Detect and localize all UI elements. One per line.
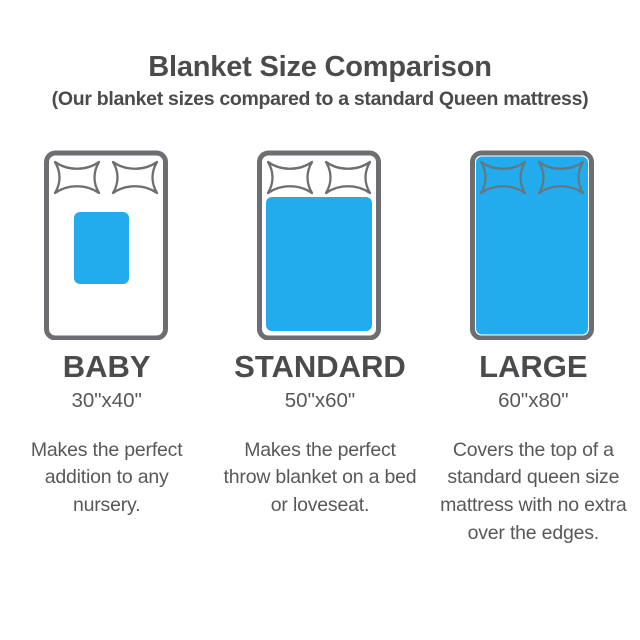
size-description-large: Covers the top of a standard queen size …	[435, 437, 631, 548]
size-description-baby: Makes the perfect addition to any nurser…	[9, 437, 205, 520]
size-name-large: LARGE	[479, 351, 588, 382]
page-subtitle: (Our blanket sizes compared to a standar…	[0, 89, 640, 110]
blanket-size-comparison-page: Blanket Size Comparison (Our blanket siz…	[0, 0, 640, 640]
bed-with-baby-blanket-icon	[42, 140, 172, 340]
size-name-standard: STANDARD	[234, 351, 406, 382]
bed-with-standard-blanket-icon	[255, 140, 385, 340]
size-dimensions-standard: 50"x60"	[285, 391, 355, 412]
size-description-standard: Makes the perfect throw blanket on a bed…	[222, 437, 418, 520]
size-column-large: LARGE 60"x80" Covers the top of a standa…	[427, 140, 640, 547]
size-columns: BABY 30"x40" Makes the perfect addition …	[0, 140, 640, 547]
page-title: Blanket Size Comparison	[0, 52, 640, 82]
size-dimensions-baby: 30"x40"	[71, 391, 141, 412]
size-dimensions-large: 60"x80"	[498, 391, 568, 412]
size-name-baby: BABY	[63, 351, 151, 382]
header: Blanket Size Comparison (Our blanket siz…	[0, 0, 640, 111]
size-column-standard: STANDARD 50"x60" Makes the perfect throw…	[213, 140, 426, 547]
size-column-baby: BABY 30"x40" Makes the perfect addition …	[0, 140, 213, 547]
bed-with-large-blanket-icon	[468, 140, 598, 340]
